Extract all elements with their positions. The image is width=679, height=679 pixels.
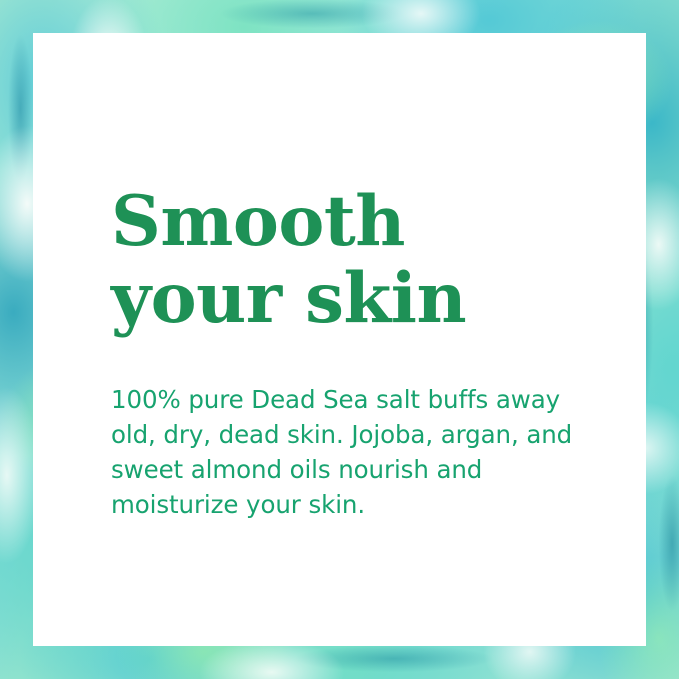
headline-line-1: Smooth [111,183,586,260]
headline-line-2: your skin [111,260,586,337]
white-content-card: Smooth your skin 100% pure Dead Sea salt… [33,33,646,646]
marketing-image: Smooth your skin 100% pure Dead Sea salt… [0,0,679,679]
page-title: Smooth your skin [111,183,586,338]
body-copy: 100% pure Dead Sea salt buffs away old, … [111,382,581,523]
card-text-block: Smooth your skin 100% pure Dead Sea salt… [111,183,586,547]
